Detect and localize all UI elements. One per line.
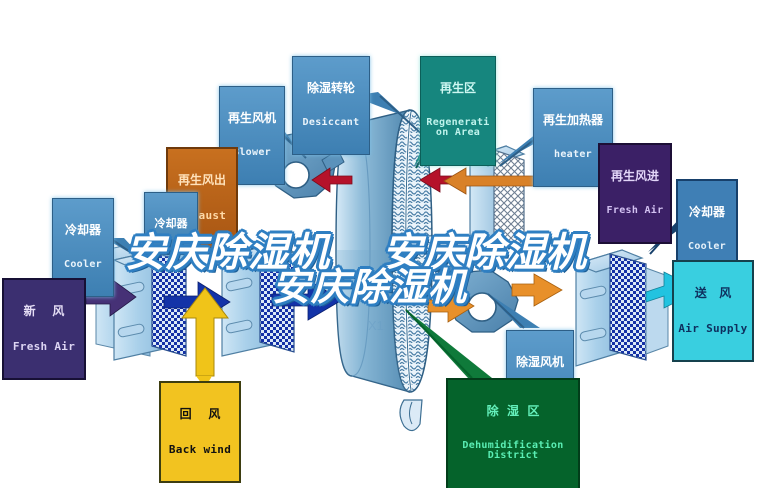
watermark-line2: 安庆除湿机 bbox=[272, 256, 467, 311]
label-desiccant-wheel: 除湿转轮 Desiccant bbox=[292, 56, 370, 155]
label-back-wind: 回 风 Back wind bbox=[159, 381, 241, 483]
arrow-dehum-orange-2 bbox=[512, 274, 562, 306]
dehumidifier-schematic-diagram: X1 除湿转轮 Desiccant 再生风机 Blower 再生区 Regene… bbox=[0, 0, 757, 488]
label-regeneration-fresh-air: 再生风进 Fresh Air bbox=[598, 143, 672, 244]
label-regeneration-area: 再生区 Regenerati on Area bbox=[420, 56, 496, 166]
label-dehumidification-district: 除 湿 区 Dehumidification District bbox=[446, 378, 580, 488]
wheel-watermark-text: X1 bbox=[368, 318, 384, 333]
label-air-supply: 送 风 Air Supply bbox=[672, 260, 754, 362]
label-fresh-air-inlet: 新 风 Fresh Air bbox=[2, 278, 86, 380]
